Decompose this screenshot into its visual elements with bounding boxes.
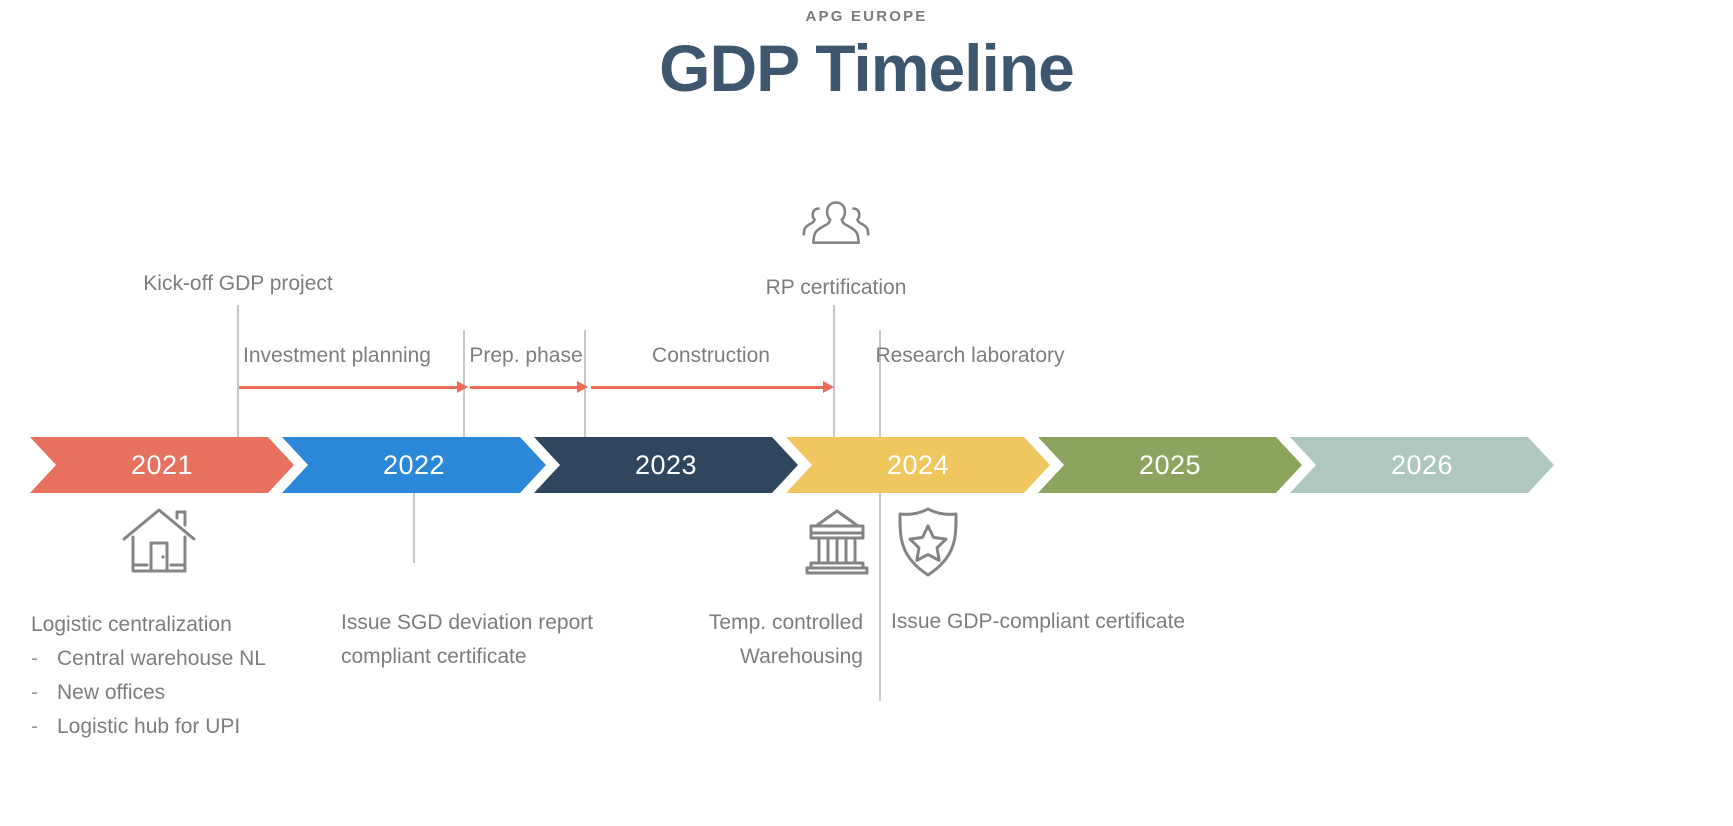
year-label-2023: 2023 bbox=[635, 450, 697, 481]
list-item: - New offices bbox=[31, 676, 266, 710]
caption-line: Temp. controlled bbox=[705, 606, 863, 640]
caption-line: Warehousing bbox=[705, 640, 863, 674]
list-item: - Central warehouse NL bbox=[31, 642, 266, 676]
caption-logistic-centralization: Logistic centralization - Central wareho… bbox=[31, 608, 266, 744]
phase-arrow-prep-phase bbox=[470, 386, 580, 389]
bank-columns-icon bbox=[800, 508, 874, 576]
year-label-2026: 2026 bbox=[1391, 450, 1453, 481]
caption-sgd-deviation-report: Issue SGD deviation report compliant cer… bbox=[341, 606, 593, 674]
phase-label-prep-phase: Prep. phase bbox=[469, 340, 582, 373]
bullet-marker: - bbox=[31, 710, 57, 744]
people-group-icon bbox=[798, 196, 874, 254]
year-chevron-2023[interactable]: 2023 bbox=[534, 437, 798, 493]
phase-label-investment-planning: Investment planning bbox=[243, 340, 431, 373]
year-label-2022: 2022 bbox=[383, 450, 445, 481]
shield-star-icon bbox=[893, 505, 963, 579]
phase-label-construction: Construction bbox=[652, 340, 770, 373]
page-title: GDP Timeline bbox=[0, 34, 1733, 103]
caption-line: Issue GDP-compliant certificate bbox=[891, 605, 1185, 639]
year-chevron-2025[interactable]: 2025 bbox=[1038, 437, 1302, 493]
year-label-2025: 2025 bbox=[1139, 450, 1201, 481]
connector-line-kickoff bbox=[237, 305, 239, 437]
phase-arrow-investment-planning bbox=[239, 386, 461, 389]
year-chevron-2026[interactable]: 2026 bbox=[1290, 437, 1554, 493]
connector-line-rp-certification bbox=[833, 305, 835, 437]
list-item: - Logistic hub for UPI bbox=[31, 710, 266, 744]
bullet-text: Central warehouse NL bbox=[57, 642, 266, 676]
phase-label-research-laboratory: Research laboratory bbox=[875, 340, 1064, 373]
caption-line: Issue SGD deviation report bbox=[341, 606, 593, 640]
caption-temp-controlled-warehousing: Temp. controlled Warehousing bbox=[705, 606, 863, 674]
caption-gdp-compliant-certificate: Issue GDP-compliant certificate bbox=[891, 605, 1185, 639]
caption-line: compliant certificate bbox=[341, 640, 593, 674]
milestone-label-rp-certification: RP certification bbox=[766, 272, 907, 305]
house-icon bbox=[120, 505, 198, 577]
gdp-timeline-infographic: APG EUROPE GDP Timeline RP certification… bbox=[0, 0, 1733, 826]
year-chevron-band: 2021 2022 2023 2024 2025 2026 bbox=[0, 437, 1733, 493]
bullet-text: New offices bbox=[57, 676, 165, 710]
connector-line-gdp-compliant-certificate bbox=[879, 493, 881, 701]
phase-arrowhead-construction bbox=[823, 381, 834, 393]
bullet-marker: - bbox=[31, 642, 57, 676]
year-chevron-2022[interactable]: 2022 bbox=[282, 437, 546, 493]
bullet-marker: - bbox=[31, 676, 57, 710]
year-label-2021: 2021 bbox=[131, 450, 193, 481]
year-chevron-2021[interactable]: 2021 bbox=[30, 437, 294, 493]
phase-arrowhead-investment-planning bbox=[457, 381, 468, 393]
brand-eyebrow: APG EUROPE bbox=[0, 8, 1733, 25]
connector-line-sgd-deviation-report bbox=[413, 493, 415, 563]
phase-arrowhead-prep-phase bbox=[577, 381, 588, 393]
phase-arrow-construction bbox=[591, 386, 826, 389]
caption-heading: Logistic centralization bbox=[31, 608, 266, 642]
milestone-label-kickoff: Kick-off GDP project bbox=[143, 268, 332, 301]
bullet-text: Logistic hub for UPI bbox=[57, 710, 240, 744]
year-chevron-2024[interactable]: 2024 bbox=[786, 437, 1050, 493]
year-label-2024: 2024 bbox=[887, 450, 949, 481]
